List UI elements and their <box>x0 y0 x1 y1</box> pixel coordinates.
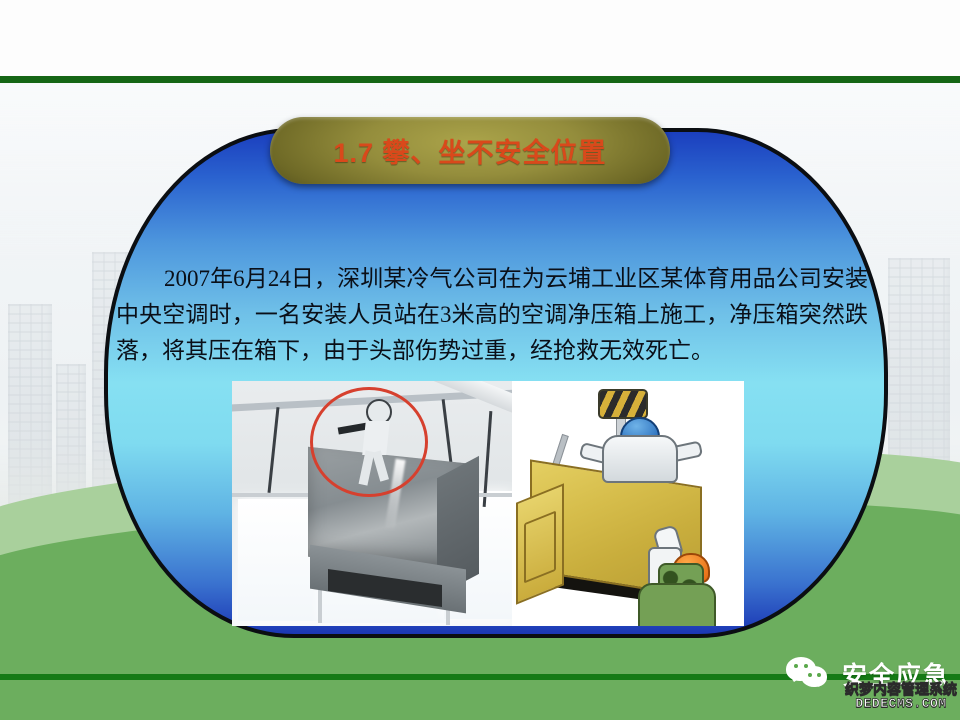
top-white-band <box>0 0 960 76</box>
crane-hook-block <box>598 389 648 419</box>
slide-canvas: 1.7 攀、坐不安全位置 2007年6月24日，深圳某冷气公司在为云埔工业区某体… <box>0 0 960 720</box>
wechat-icon <box>786 657 834 691</box>
dedecms-watermark: 织梦内容管理系统 DEDECMS.COM <box>845 682 957 710</box>
top-green-rule <box>0 76 960 83</box>
watermark-cn: 织梦内容管理系统 <box>845 682 957 696</box>
photo-row <box>232 381 744 626</box>
incident-description-text: 2007年6月24日，深圳某冷气公司在为云埔工业区某体育用品公司安装中央空调时，… <box>116 261 868 369</box>
watermark-en: DEDECMS.COM <box>845 697 957 710</box>
ceiling-plenum-box-photo <box>232 381 512 626</box>
slide-title-pill: 1.7 攀、坐不安全位置 <box>270 117 670 184</box>
crane-lift-cartoon-illustration <box>512 381 744 626</box>
page-title: 1.7 攀、坐不安全位置 <box>333 131 606 170</box>
